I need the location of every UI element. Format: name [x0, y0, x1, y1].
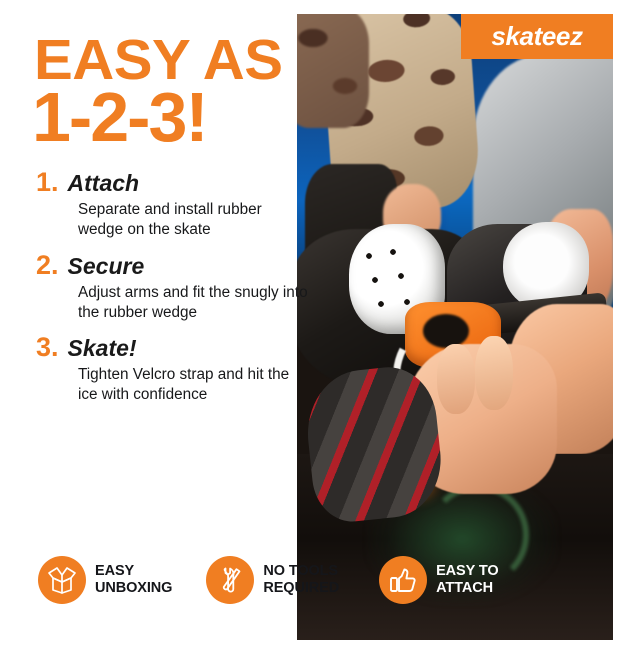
left-content-column: EASY AS 1-2-3! 1. Attach Separate and in… — [0, 0, 320, 416]
headline-line-2: 1-2-3! — [32, 87, 320, 147]
headline-line-1: EASY AS — [34, 36, 326, 85]
step-2-body: Adjust arms and fit the snugly into the … — [78, 283, 310, 323]
badge-easy-unboxing: EASY UNBOXING — [38, 556, 172, 604]
step-1-title: Attach — [68, 172, 140, 195]
badge-3-label: EASY TO ATTACH — [436, 563, 498, 596]
step-3-number: 3. — [36, 334, 59, 361]
step-3-body: Tighten Velcro strap and hit the ice wit… — [78, 365, 310, 405]
badge-1-label: EASY UNBOXING — [95, 563, 172, 596]
step-2-title: Secure — [68, 255, 145, 278]
step-1-heading: 1. Attach — [36, 169, 320, 196]
badge-2-circle — [206, 556, 254, 604]
infographic-poster: EASY AS 1-2-3! 1. Attach Separate and in… — [0, 0, 640, 654]
right-margin — [613, 0, 640, 654]
step-item-3: 3. Skate! Tighten Velcro strap and hit t… — [36, 334, 320, 405]
badge-no-tools-required: NO TOOLS REQUIRED — [206, 556, 339, 604]
finger-two — [475, 336, 513, 410]
bottom-margin — [0, 640, 640, 654]
step-item-1: 1. Attach Separate and install rubber we… — [36, 169, 320, 240]
step-item-2: 2. Secure Adjust arms and fit the snugly… — [36, 252, 320, 323]
step-1-body: Separate and install rubber wedge on the… — [78, 200, 310, 240]
striped-sleeve — [302, 363, 447, 526]
step-2-heading: 2. Secure — [36, 252, 320, 279]
badge-3-circle — [379, 556, 427, 604]
finger-one — [437, 344, 475, 414]
badge-easy-to-attach: EASY TO ATTACH — [379, 556, 498, 604]
badge-1-circle — [38, 556, 86, 604]
brand-logo-text: skateez — [491, 21, 582, 52]
steps-list: 1. Attach Separate and install rubber we… — [36, 169, 320, 405]
step-3-title: Skate! — [68, 337, 137, 360]
thumbs-up-icon — [388, 565, 418, 595]
badge-2-label: NO TOOLS REQUIRED — [263, 563, 339, 596]
top-margin — [0, 0, 640, 14]
step-1-number: 1. — [36, 169, 59, 196]
no-tools-icon — [215, 565, 245, 595]
step-3-heading: 3. Skate! — [36, 334, 320, 361]
feature-badges-row: EASY UNBOXING NO TOOLS REQUIRED — [0, 540, 640, 620]
page-title: EASY AS 1-2-3! — [0, 36, 320, 147]
open-box-icon — [47, 566, 77, 594]
step-2-number: 2. — [36, 252, 59, 279]
brand-logo[interactable]: skateez — [461, 14, 613, 59]
